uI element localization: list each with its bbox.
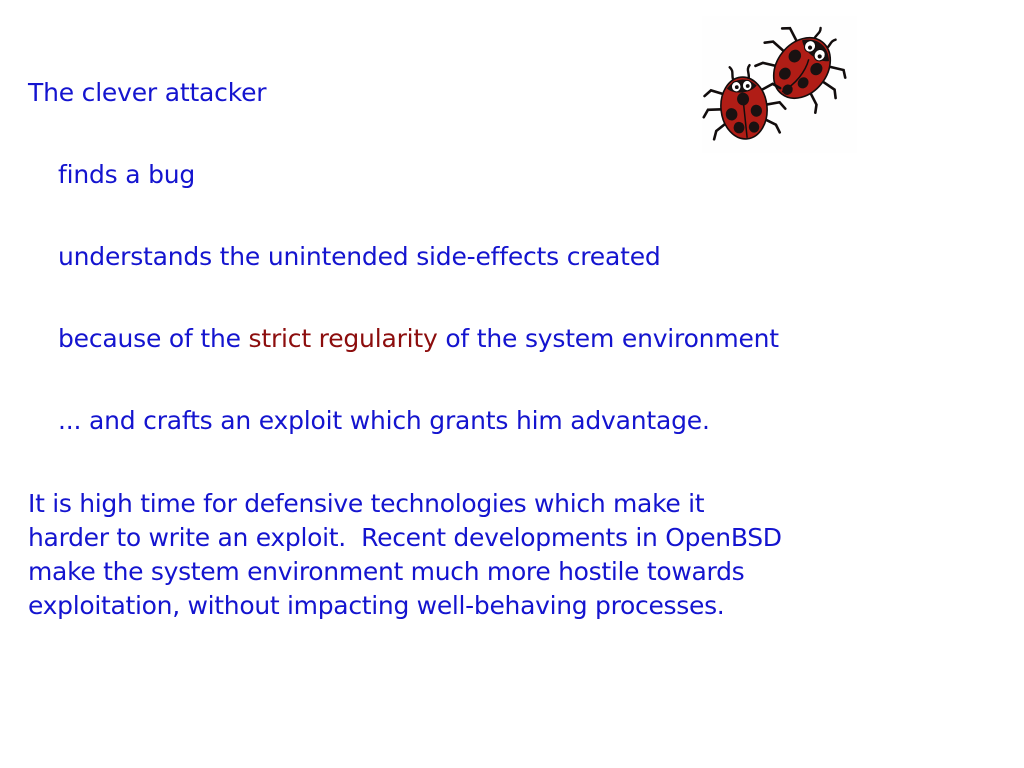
bullet-line-3: because of the strict regularity of the … — [58, 324, 779, 354]
bullet-line-1: finds a bug — [58, 160, 195, 190]
bullet-line-3-before: because of the — [58, 324, 249, 353]
paragraph-line-4: exploitation, without impacting well-beh… — [28, 589, 908, 623]
paragraph-line-3: make the system environment much more ho… — [28, 555, 908, 589]
bullet-line-3-after: of the system environment — [438, 324, 779, 353]
slide-text-body: The clever attacker finds a bug understa… — [0, 0, 1024, 768]
slide-canvas: The clever attacker finds a bug understa… — [0, 0, 1024, 768]
paragraph-line-2: harder to write an exploit. Recent devel… — [28, 521, 908, 555]
paragraph-line-1: It is high time for defensive technologi… — [28, 487, 908, 521]
bullet-line-4: ... and crafts an exploit which grants h… — [58, 406, 710, 436]
bullet-line-3-highlight: strict regularity — [249, 324, 438, 353]
bullet-line-2: understands the unintended side-effects … — [58, 242, 661, 272]
heading-line: The clever attacker — [28, 78, 266, 108]
closing-paragraph: It is high time for defensive technologi… — [28, 487, 908, 623]
